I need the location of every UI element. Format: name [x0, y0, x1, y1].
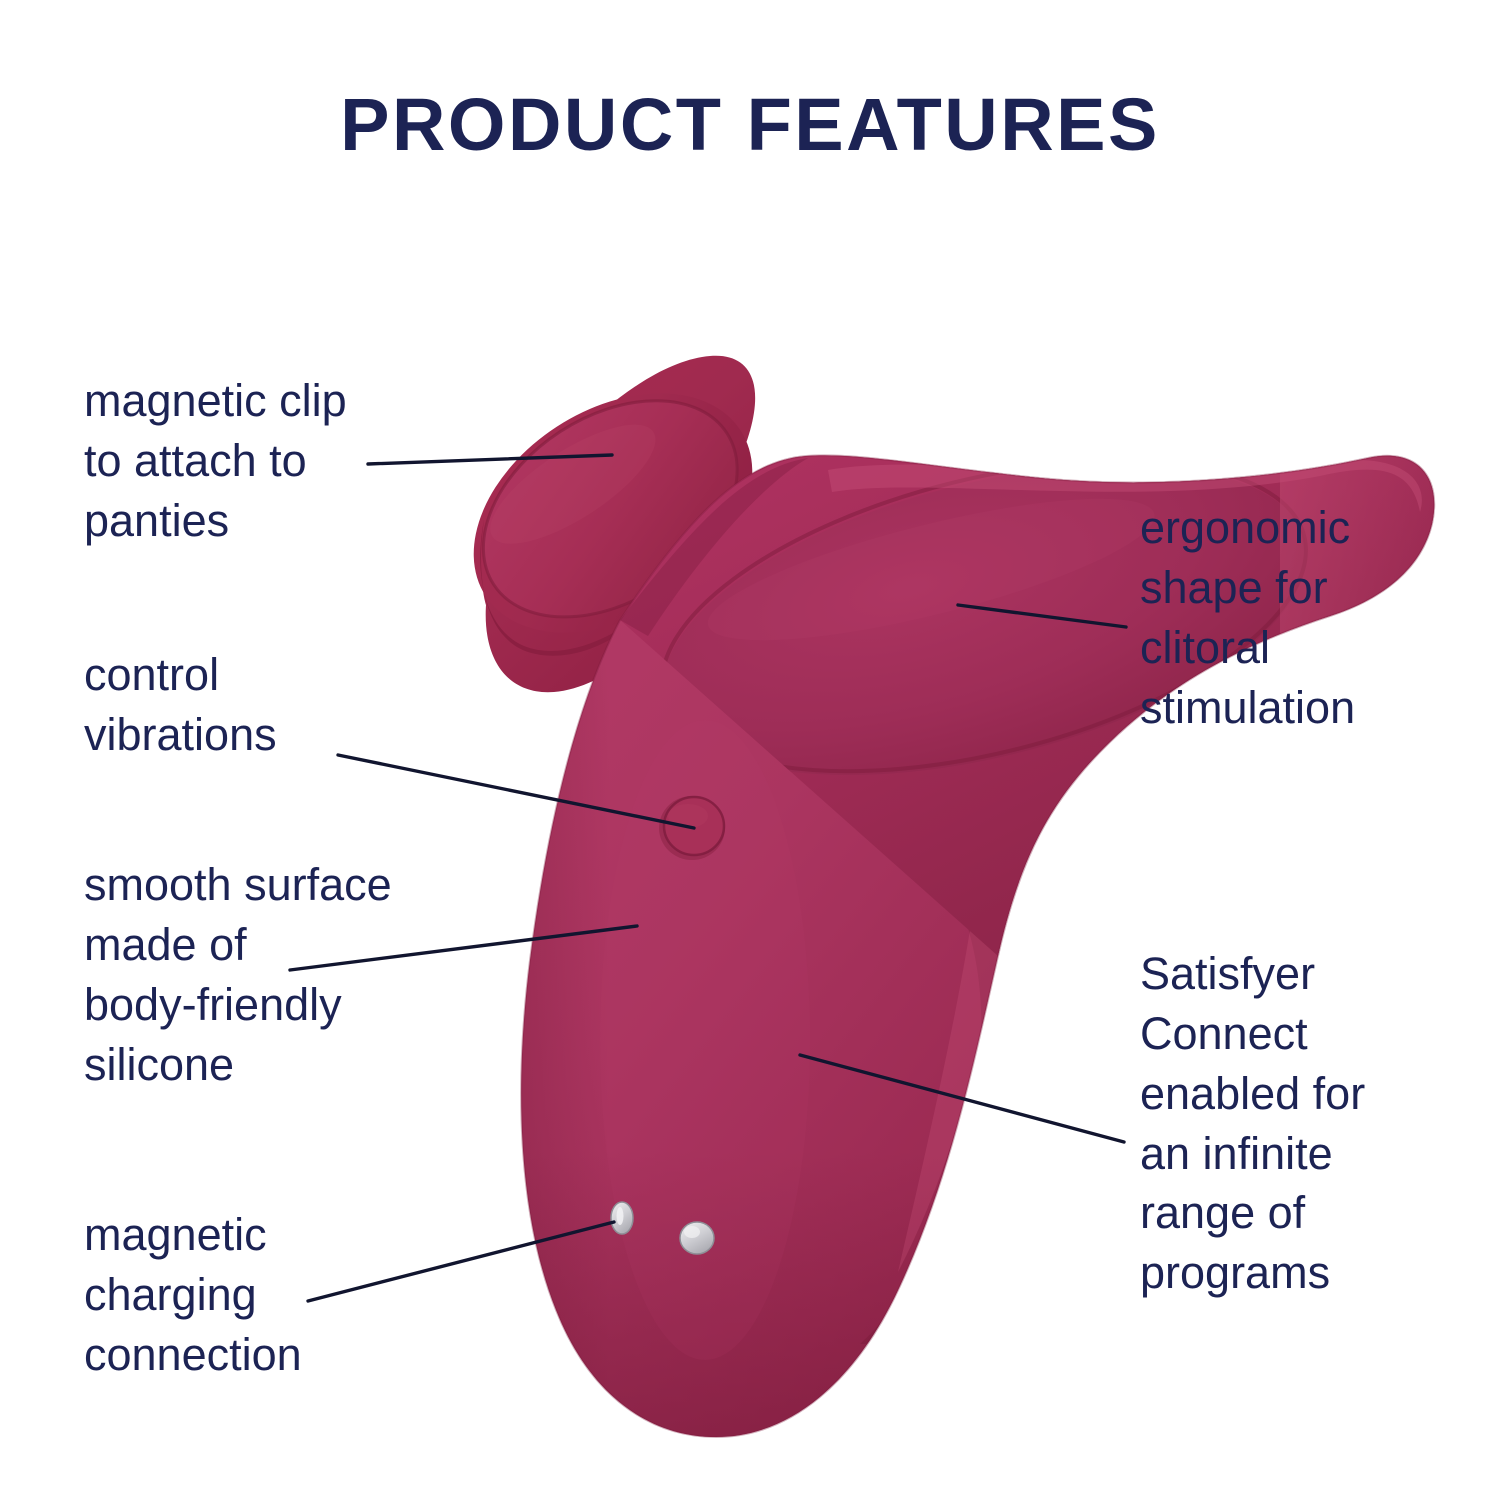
charging-contact-large — [680, 1222, 714, 1254]
product-features-infographic: PRODUCT FEATURES — [0, 0, 1500, 1500]
callout-magnetic-clip: magnetic clip to attach to panties — [84, 371, 414, 551]
callout-ergonomic-shape: ergonomic shape for clitoral stimulation — [1140, 498, 1440, 737]
callout-satisfyer-connect: Satisfyer Connect enabled for an infinit… — [1140, 944, 1440, 1303]
callout-control-vibrations: control vibrations — [84, 645, 384, 765]
control-button[interactable] — [659, 796, 725, 860]
charging-contact-small — [611, 1202, 633, 1234]
callout-smooth-surface: smooth surface made of body-friendly sil… — [84, 855, 484, 1094]
callout-magnetic-charging: magnetic charging connection — [84, 1205, 414, 1385]
